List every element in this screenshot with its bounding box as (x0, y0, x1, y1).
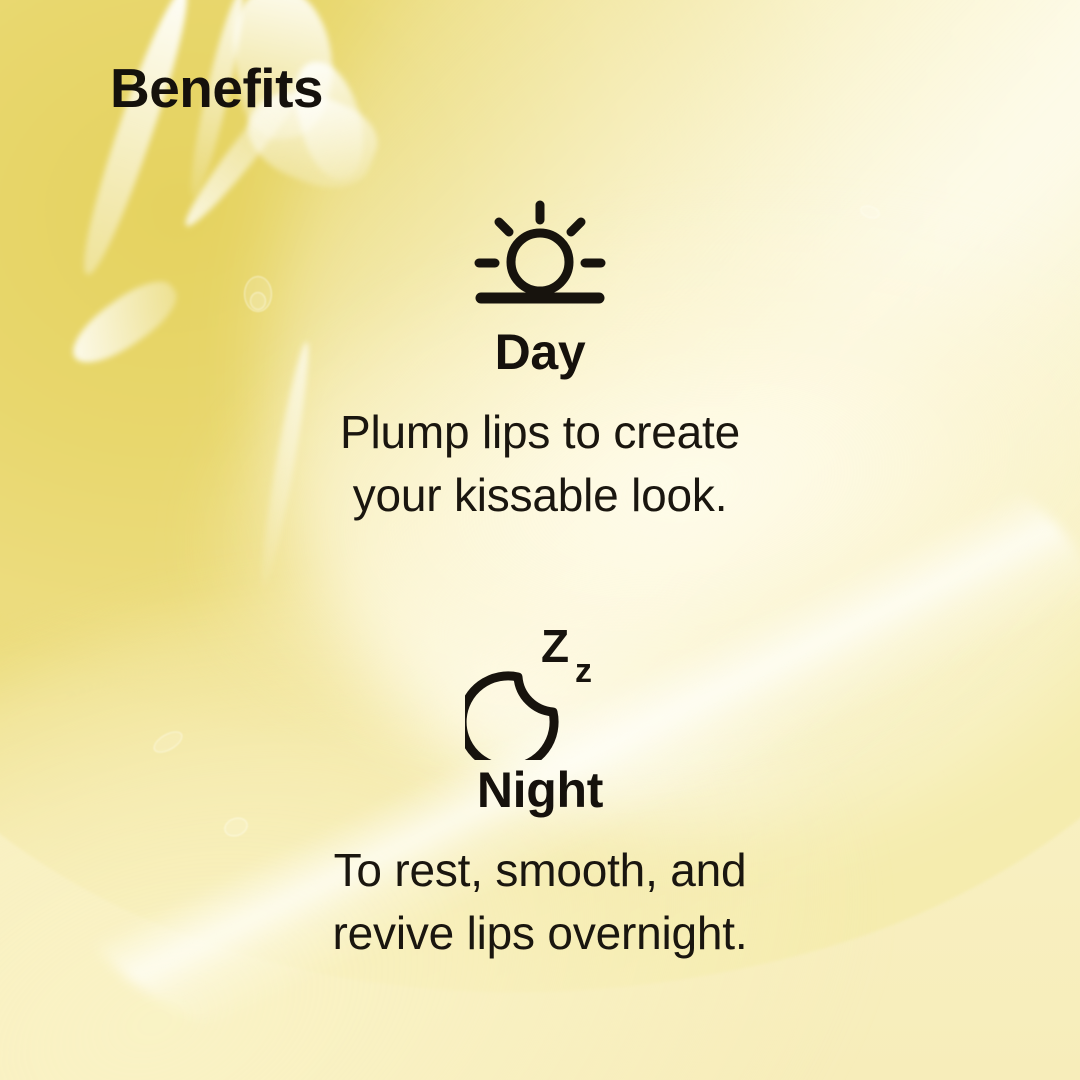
svg-text:Z: Z (541, 620, 569, 672)
svg-text:z: z (575, 652, 592, 690)
benefit-heading-day: Day (0, 326, 1080, 379)
benefit-text-night: To rest, smooth, and revive lips overnig… (0, 839, 1080, 966)
page-title: Benefits (110, 58, 323, 119)
benefit-section-day: Day Plump lips to create your kissable l… (0, 196, 1080, 527)
benefit-text-day: Plump lips to create your kissable look. (0, 401, 1080, 528)
benefit-text-line: revive lips overnight. (0, 902, 1080, 965)
benefit-text-line: Plump lips to create (0, 401, 1080, 464)
benefit-text-line: To rest, smooth, and (0, 839, 1080, 902)
sunrise-icon (0, 196, 1080, 308)
benefit-section-night: Z z Night To rest, smooth, and revive li… (0, 634, 1080, 965)
benefits-card: Benefits (0, 0, 1080, 1080)
benefit-heading-night: Night (0, 764, 1080, 817)
benefit-text-line: your kissable look. (0, 464, 1080, 527)
moon-zzz-icon: Z z (0, 634, 1080, 746)
card-content: Benefits (0, 0, 1080, 1080)
